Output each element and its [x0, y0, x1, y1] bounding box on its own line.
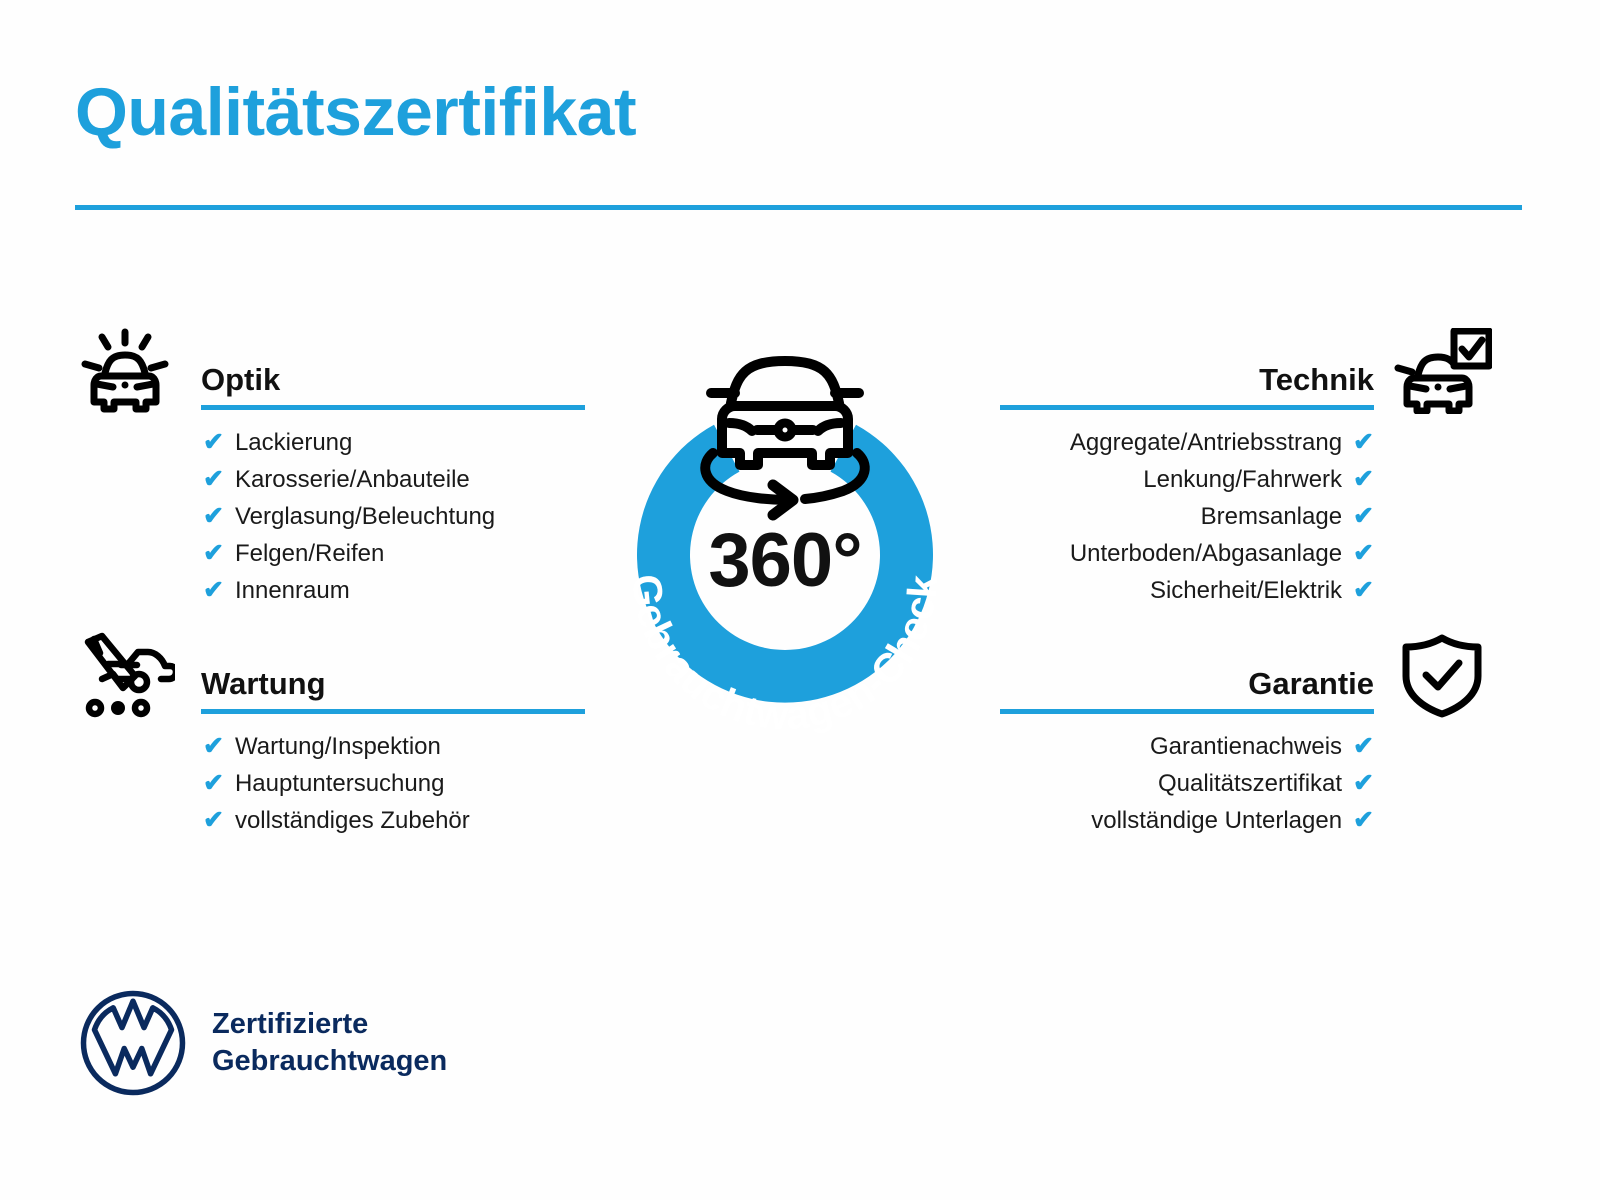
section-technik: Technik Aggregate/Antriebsstrang✔ Lenkun… [1000, 328, 1520, 609]
section-technik-title: Technik [1259, 362, 1374, 398]
list-item-label: Qualitätszertifikat [1158, 765, 1342, 802]
shield-check-icon [1392, 632, 1492, 718]
check-icon: ✔ [203, 765, 224, 802]
list-item-label: Unterboden/Abgasanlage [1070, 535, 1342, 572]
section-optik-divider [201, 405, 585, 410]
section-technik-divider [1000, 405, 1374, 410]
list-item-label: Garantienachweis [1150, 728, 1342, 765]
list-item: vollständige Unterlagen✔ [1000, 802, 1520, 839]
list-item-label: Bremsanlage [1201, 498, 1342, 535]
check-icon: ✔ [1353, 802, 1374, 839]
car-shine-icon [75, 328, 175, 414]
list-item-label: vollständige Unterlagen [1091, 802, 1342, 839]
list-item-label: Lenkung/Fahrwerk [1143, 461, 1342, 498]
list-item: ✔Innenraum [75, 572, 585, 609]
list-item-label: Karosserie/Anbauteile [235, 461, 470, 498]
list-item: Qualitätszertifikat✔ [1000, 765, 1520, 802]
section-wartung: Wartung ✔Wartung/Inspektion ✔Hauptunters… [75, 632, 585, 839]
list-item: Sicherheit/Elektrik✔ [1000, 572, 1520, 609]
list-item-label: Lackierung [235, 424, 352, 461]
list-item: ✔Verglasung/Beleuchtung [75, 498, 585, 535]
section-technik-header: Technik [1000, 328, 1520, 424]
section-garantie-divider [1000, 709, 1374, 714]
badge-360-gebrauchtwagen-check: Gebrauchtwagen-Check 360° [565, 305, 1005, 755]
check-icon: ✔ [203, 424, 224, 461]
certificate-page: Qualitätszertifikat Optik [0, 0, 1600, 1200]
footer-text: Zertifizierte Gebrauchtwagen [212, 1006, 447, 1080]
pencil-car-service-icon [75, 632, 175, 718]
section-wartung-list: ✔Wartung/Inspektion ✔Hauptuntersuchung ✔… [75, 728, 585, 839]
list-item-label: Aggregate/Antriebsstrang [1070, 424, 1342, 461]
list-item: ✔Karosserie/Anbauteile [75, 461, 585, 498]
footer-line-2: Gebrauchtwagen [212, 1043, 447, 1080]
footer-brand: Zertifizierte Gebrauchtwagen [78, 988, 447, 1098]
list-item-label: Sicherheit/Elektrik [1150, 572, 1342, 609]
list-item: ✔Wartung/Inspektion [75, 728, 585, 765]
check-icon: ✔ [203, 461, 224, 498]
check-icon: ✔ [1353, 498, 1374, 535]
list-item-label: Innenraum [235, 572, 350, 609]
check-icon: ✔ [203, 572, 224, 609]
list-item: Garantienachweis✔ [1000, 728, 1520, 765]
check-icon: ✔ [1353, 765, 1374, 802]
volkswagen-logo [78, 988, 188, 1098]
section-optik: Optik ✔Lackierung ✔Karosserie/Anbauteile… [75, 328, 585, 609]
list-item-label: Wartung/Inspektion [235, 728, 441, 765]
list-item: ✔Lackierung [75, 424, 585, 461]
check-icon: ✔ [1353, 424, 1374, 461]
list-item: Unterboden/Abgasanlage✔ [1000, 535, 1520, 572]
check-icon: ✔ [203, 802, 224, 839]
badge-number: 360° [565, 517, 1005, 604]
footer-line-1: Zertifizierte [212, 1006, 447, 1043]
check-icon: ✔ [203, 498, 224, 535]
section-garantie: Garantie Garantienachweis✔ Qualitätszert… [1000, 632, 1520, 839]
list-item-label: Felgen/Reifen [235, 535, 384, 572]
check-icon: ✔ [1353, 728, 1374, 765]
list-item: Lenkung/Fahrwerk✔ [1000, 461, 1520, 498]
section-wartung-header: Wartung [75, 632, 585, 728]
section-optik-header: Optik [75, 328, 585, 424]
list-item: Bremsanlage✔ [1000, 498, 1520, 535]
car-checkbox-icon [1392, 328, 1492, 414]
car-360-rotation-icon [705, 361, 864, 515]
section-wartung-title: Wartung [201, 666, 326, 702]
section-technik-list: Aggregate/Antriebsstrang✔ Lenkung/Fahrwe… [1000, 424, 1520, 609]
list-item: ✔Felgen/Reifen [75, 535, 585, 572]
section-optik-title: Optik [201, 362, 280, 398]
section-garantie-header: Garantie [1000, 632, 1520, 728]
check-icon: ✔ [203, 728, 224, 765]
list-item: Aggregate/Antriebsstrang✔ [1000, 424, 1520, 461]
section-optik-list: ✔Lackierung ✔Karosserie/Anbauteile ✔Verg… [75, 424, 585, 609]
check-icon: ✔ [1353, 461, 1374, 498]
list-item: ✔Hauptuntersuchung [75, 765, 585, 802]
list-item: ✔vollständiges Zubehör [75, 802, 585, 839]
section-garantie-list: Garantienachweis✔ Qualitätszertifikat✔ v… [1000, 728, 1520, 839]
check-icon: ✔ [1353, 572, 1374, 609]
page-title: Qualitätszertifikat [75, 78, 636, 146]
check-icon: ✔ [1353, 535, 1374, 572]
check-icon: ✔ [203, 535, 224, 572]
section-garantie-title: Garantie [1248, 666, 1374, 702]
list-item-label: vollständiges Zubehör [235, 802, 470, 839]
section-wartung-divider [201, 709, 585, 714]
list-item-label: Verglasung/Beleuchtung [235, 498, 495, 535]
list-item-label: Hauptuntersuchung [235, 765, 444, 802]
header-divider [75, 205, 1522, 210]
